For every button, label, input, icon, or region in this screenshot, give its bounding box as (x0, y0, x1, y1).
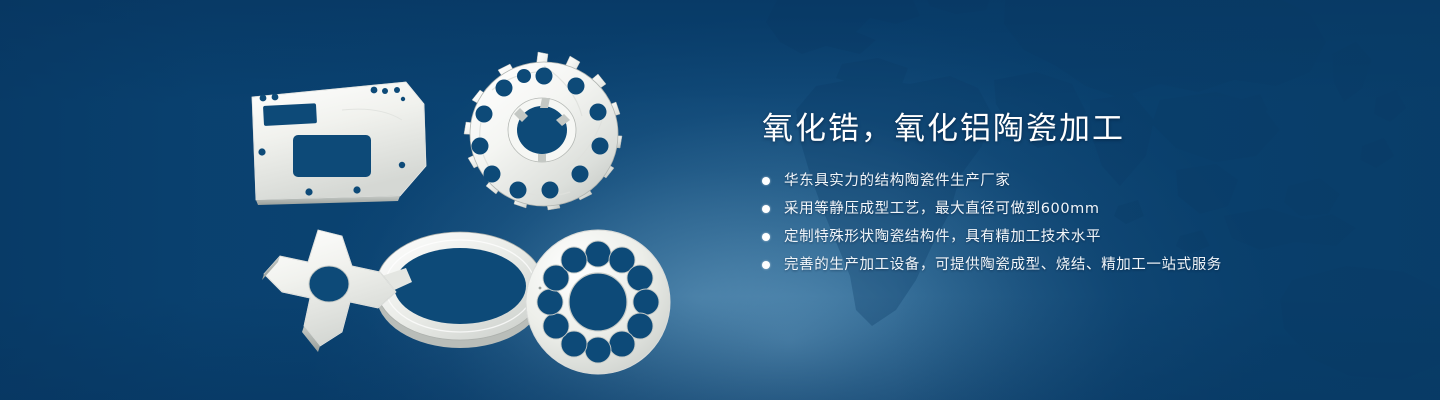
bullet-dot-icon (762, 177, 770, 185)
promo-banner: 氧化锆，氧化铝陶瓷加工 华东具实力的结构陶瓷件生产厂家 采用等静压成型工艺，最大… (0, 0, 1440, 400)
list-item-label: 采用等静压成型工艺，最大直径可做到600mm (784, 199, 1100, 219)
ceramic-ring (376, 232, 544, 348)
list-item-label: 定制特殊形状陶瓷结构件，具有精加工技术水平 (784, 227, 1101, 247)
ceramic-products-image (230, 40, 730, 370)
list-item: 华东具实力的结构陶瓷件生产厂家 (762, 171, 1322, 191)
ceramic-perforated-disc (526, 230, 670, 374)
list-item-label: 华东具实力的结构陶瓷件生产厂家 (784, 171, 1011, 191)
bullet-dot-icon (762, 261, 770, 269)
ceramic-cross-plate (262, 230, 396, 352)
list-item: 完善的生产加工设备，可提供陶瓷成型、烧结、精加工一站式服务 (762, 255, 1322, 275)
page-title: 氧化锆，氧化铝陶瓷加工 (762, 110, 1322, 149)
bullet-dot-icon (762, 233, 770, 241)
list-item: 定制特殊形状陶瓷结构件，具有精加工技术水平 (762, 227, 1322, 247)
feature-list: 华东具实力的结构陶瓷件生产厂家 采用等静压成型工艺，最大直径可做到600mm 定… (762, 171, 1322, 275)
banner-copy: 氧化锆，氧化铝陶瓷加工 华东具实力的结构陶瓷件生产厂家 采用等静压成型工艺，最大… (762, 110, 1322, 275)
bullet-dot-icon (762, 205, 770, 213)
list-item-label: 完善的生产加工设备，可提供陶瓷成型、烧结、精加工一站式服务 (784, 255, 1222, 275)
ceramic-machined-plate (252, 82, 426, 205)
list-item: 采用等静压成型工艺，最大直径可做到600mm (762, 199, 1322, 219)
ceramic-impeller-disc (464, 52, 622, 210)
